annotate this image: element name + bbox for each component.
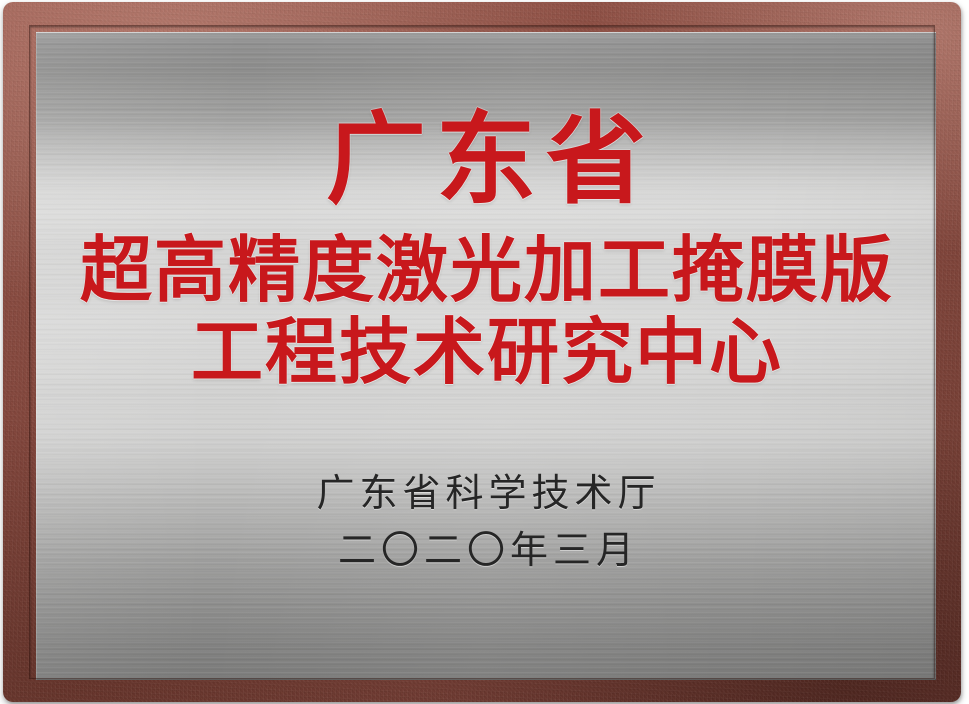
plaque-issuing-authority: 广东省科学技术厅 xyxy=(311,474,660,514)
brushed-metal-striation-texture xyxy=(36,32,936,680)
plaque-issue-date: 二〇二〇年三月 xyxy=(333,531,639,571)
plaque-title-line-3: 工程技术研究中心 xyxy=(189,316,783,390)
plaque-title-line-1: 广东省 xyxy=(316,110,656,210)
image-canvas: 广东省 超高精度激光加工掩膜版 工程技术研究中心 广东省科学技术厅 二〇二〇年三… xyxy=(0,0,969,704)
metal-sheen-highlight xyxy=(36,32,936,680)
plaque-wooden-frame: 广东省 超高精度激光加工掩膜版 工程技术研究中心 广东省科学技术厅 二〇二〇年三… xyxy=(3,2,961,702)
plaque-title-line-2: 超高精度激光加工掩膜版 xyxy=(78,234,894,308)
plaque-text-block: 广东省 超高精度激光加工掩膜版 工程技术研究中心 广东省科学技术厅 二〇二〇年三… xyxy=(36,32,936,680)
brushed-metal-plate: 广东省 超高精度激光加工掩膜版 工程技术研究中心 广东省科学技术厅 二〇二〇年三… xyxy=(36,32,936,680)
